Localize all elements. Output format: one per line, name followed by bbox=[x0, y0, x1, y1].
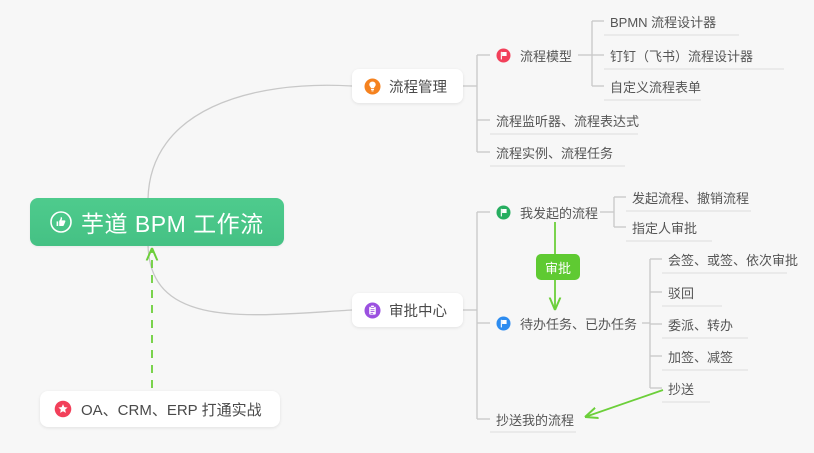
arrow-cc-to-ccme bbox=[585, 390, 663, 417]
node-delegate-transfer[interactable]: 委派、转办 bbox=[662, 311, 739, 337]
node-countersign-or-sequential[interactable]: 会签、或签、依次审批 bbox=[662, 246, 804, 272]
node-add-remove-sign[interactable]: 加签、减签 bbox=[662, 343, 739, 369]
node-add-remove-sign-label: 加签、减签 bbox=[668, 347, 733, 366]
approval-tag-label: 审批 bbox=[545, 258, 571, 277]
lightbulb-icon bbox=[364, 78, 381, 95]
node-assignee-approval-label: 指定人审批 bbox=[632, 218, 697, 237]
branch-approval-center-label: 审批中心 bbox=[389, 300, 447, 321]
node-cc-to-me-process[interactable]: 抄送我的流程 bbox=[490, 406, 580, 432]
node-process-instance-task[interactable]: 流程实例、流程任务 bbox=[490, 139, 619, 165]
node-process-model[interactable]: 流程模型 bbox=[490, 42, 578, 68]
node-cc-label: 抄送 bbox=[668, 379, 694, 398]
link-root-to-process-management bbox=[148, 85, 352, 199]
node-assignee-approval[interactable]: 指定人审批 bbox=[626, 214, 703, 240]
node-my-started-process[interactable]: 我发起的流程 bbox=[490, 199, 604, 225]
node-process-listener-expression[interactable]: 流程监听器、流程表达式 bbox=[490, 107, 645, 133]
approval-tag[interactable]: 审批 bbox=[536, 254, 580, 280]
star-icon bbox=[54, 400, 72, 418]
clipboard-icon bbox=[364, 302, 381, 319]
root-label: 芋道 BPM 工作流 bbox=[81, 205, 264, 239]
link-root-to-approval-center bbox=[148, 245, 352, 315]
node-bpmn-designer[interactable]: BPMN 流程设计器 bbox=[604, 8, 722, 34]
node-dingtalk-feishu-designer[interactable]: 钉钉（飞书）流程设计器 bbox=[604, 42, 759, 68]
flag-icon bbox=[496, 205, 511, 220]
node-process-listener-expression-label: 流程监听器、流程表达式 bbox=[496, 111, 639, 130]
node-custom-process-form[interactable]: 自定义流程表单 bbox=[604, 73, 707, 99]
flag-icon bbox=[496, 48, 511, 63]
node-my-started-process-label: 我发起的流程 bbox=[520, 203, 598, 222]
branch-approval-center[interactable]: 审批中心 bbox=[352, 293, 463, 327]
node-start-cancel-process-label: 发起流程、撤销流程 bbox=[632, 188, 749, 207]
branch-process-management-label: 流程管理 bbox=[389, 76, 447, 97]
node-todo-done-tasks-label: 待办任务、已办任务 bbox=[520, 314, 637, 333]
node-dingtalk-feishu-designer-label: 钉钉（飞书）流程设计器 bbox=[610, 46, 753, 65]
node-countersign-or-sequential-label: 会签、或签、依次审批 bbox=[668, 250, 798, 269]
node-todo-done-tasks[interactable]: 待办任务、已办任务 bbox=[490, 310, 643, 336]
node-bpmn-designer-label: BPMN 流程设计器 bbox=[610, 12, 716, 31]
branch-process-management[interactable]: 流程管理 bbox=[352, 69, 463, 103]
node-reject[interactable]: 驳回 bbox=[662, 279, 700, 305]
node-custom-process-form-label: 自定义流程表单 bbox=[610, 77, 701, 96]
root-node[interactable]: 芋道 BPM 工作流 bbox=[30, 198, 284, 246]
flag-icon bbox=[496, 316, 511, 331]
node-cc-to-me-process-label: 抄送我的流程 bbox=[496, 410, 574, 429]
mindmap-canvas: 芋道 BPM 工作流 流程管理 流程模型 BPMN 流程设计器 钉钉（飞书）流 bbox=[0, 0, 814, 453]
node-start-cancel-process[interactable]: 发起流程、撤销流程 bbox=[626, 184, 755, 210]
node-delegate-transfer-label: 委派、转办 bbox=[668, 315, 733, 334]
callout-oa-crm-erp[interactable]: OA、CRM、ERP 打通实战 bbox=[40, 391, 280, 427]
callout-oa-crm-erp-label: OA、CRM、ERP 打通实战 bbox=[81, 399, 262, 420]
thumbs-up-icon bbox=[50, 211, 72, 233]
node-process-model-label: 流程模型 bbox=[520, 46, 572, 65]
node-cc[interactable]: 抄送 bbox=[662, 375, 700, 401]
node-reject-label: 驳回 bbox=[668, 283, 694, 302]
node-process-instance-task-label: 流程实例、流程任务 bbox=[496, 143, 613, 162]
